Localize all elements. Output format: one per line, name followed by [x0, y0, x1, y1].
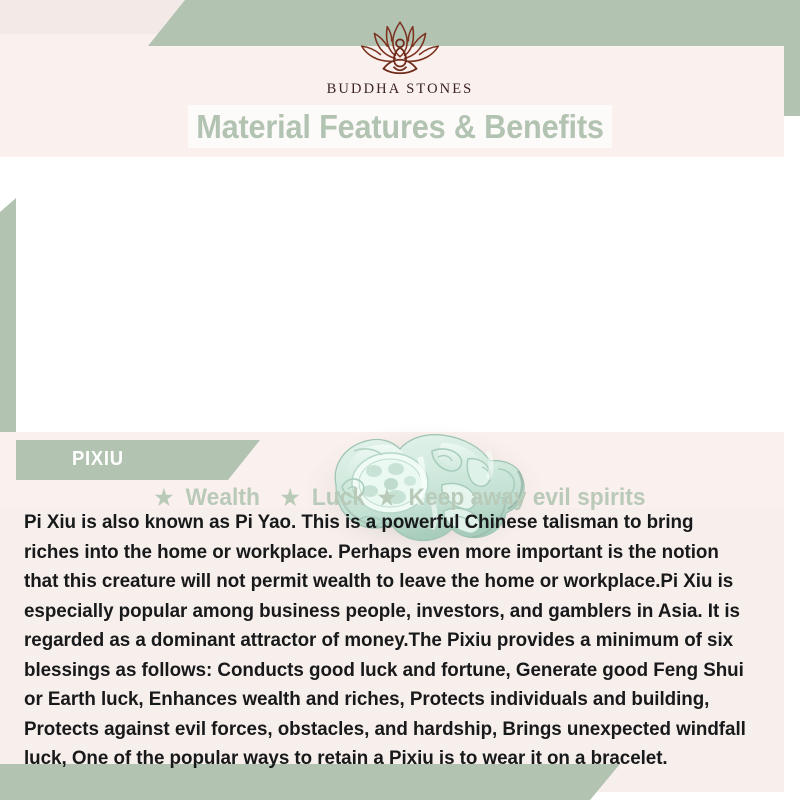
- star-icon: ★: [153, 485, 176, 510]
- product-image-area: [16, 157, 784, 432]
- benefit-luck: Luck: [310, 484, 367, 511]
- star-icon: ★: [279, 485, 302, 510]
- description-paragraph: Pi Xiu is also known as Pi Yao. This is …: [24, 508, 750, 774]
- lotus-meditation-icon: [355, 16, 445, 78]
- pixiu-tag-label: PIXIU: [72, 448, 124, 471]
- benefit-wealth: Wealth: [184, 484, 262, 511]
- page-title: Material Features & Benefits: [28, 108, 772, 146]
- benefit-evil-spirits: Keep away evil spirits: [407, 484, 648, 511]
- star-icon: ★: [376, 485, 399, 510]
- brand-logo-block: BUDDHA STONES: [0, 16, 800, 106]
- pixiu-tag-shape: [16, 440, 260, 480]
- product-info-card: BUDDHA STONES Material Features & Benefi…: [0, 0, 800, 800]
- brand-wordmark: BUDDHA STONES: [327, 81, 474, 98]
